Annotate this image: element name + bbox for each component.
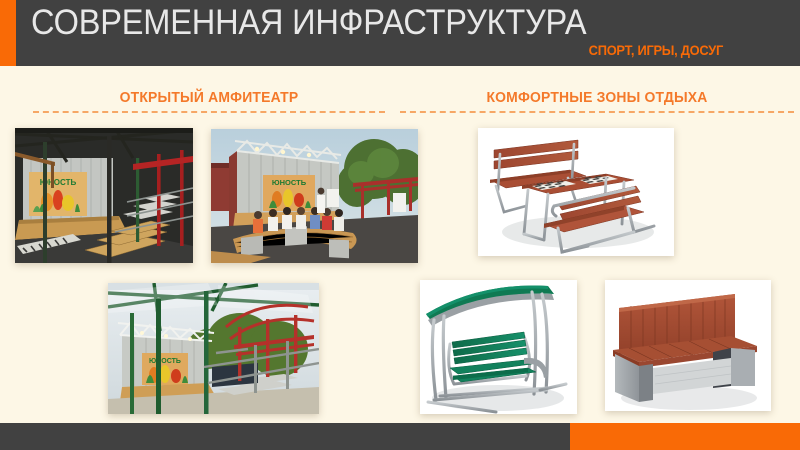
header-subtitle: СПОРТ, ИГРЫ, ДОСУГ — [589, 42, 723, 58]
svg-text:ЮНОСТЬ: ЮНОСТЬ — [149, 358, 181, 365]
page-title: СОВРЕМЕННАЯ ИНФРАСТРУКТУРА — [31, 3, 586, 43]
slide-canvas: СОВРЕМЕННАЯ ИНФРАСТРУКТУРА СПОРТ, ИГРЫ, … — [0, 0, 800, 450]
section-divider-right — [400, 111, 794, 113]
photo-amphitheater-canopy: ЮНОСТЬ — [108, 283, 319, 414]
photo-park-bench — [605, 280, 771, 411]
section-heading-left: ОТКРЫТЫЙ АМФИТЕАТР — [33, 90, 385, 113]
header-accent-stripe — [0, 0, 16, 66]
photo-park-bench-image — [605, 280, 771, 411]
svg-text:ЮНОСТЬ: ЮНОСТЬ — [272, 178, 307, 187]
header-bar: СОВРЕМЕННАЯ ИНФРАСТРУКТУРА СПОРТ, ИГРЫ, … — [0, 0, 800, 66]
section-title-amphitheater: ОТКРЫТЫЙ АМФИТЕАТР — [40, 90, 378, 106]
photo-amphitheater-canopy-image: ЮНОСТЬ — [108, 283, 319, 414]
section-heading-right: КОМФОРТНЫЕ ЗОНЫ ОТДЫХА — [400, 90, 794, 113]
footer-orange-block — [570, 423, 800, 450]
photo-swing-bench — [420, 280, 577, 414]
photo-amphitheater-audience-image: ЮНОСТЬ — [211, 129, 418, 263]
photo-swing-bench-image — [420, 280, 577, 414]
photo-chess-table-set — [478, 128, 674, 256]
photo-amphitheater-audience: ЮНОСТЬ — [211, 129, 418, 263]
footer-bar — [0, 423, 800, 450]
photo-amphitheater-interior: ЮНОСТЬ — [15, 128, 193, 263]
photo-amphitheater-interior-image: ЮНОСТЬ — [15, 128, 193, 263]
photo-chess-table-set-image — [478, 128, 674, 256]
section-divider-left — [33, 111, 385, 113]
section-title-rest-zones: КОМФОРТНЫЕ ЗОНЫ ОТДЫХА — [408, 90, 786, 106]
footer-dark-block — [0, 423, 570, 450]
